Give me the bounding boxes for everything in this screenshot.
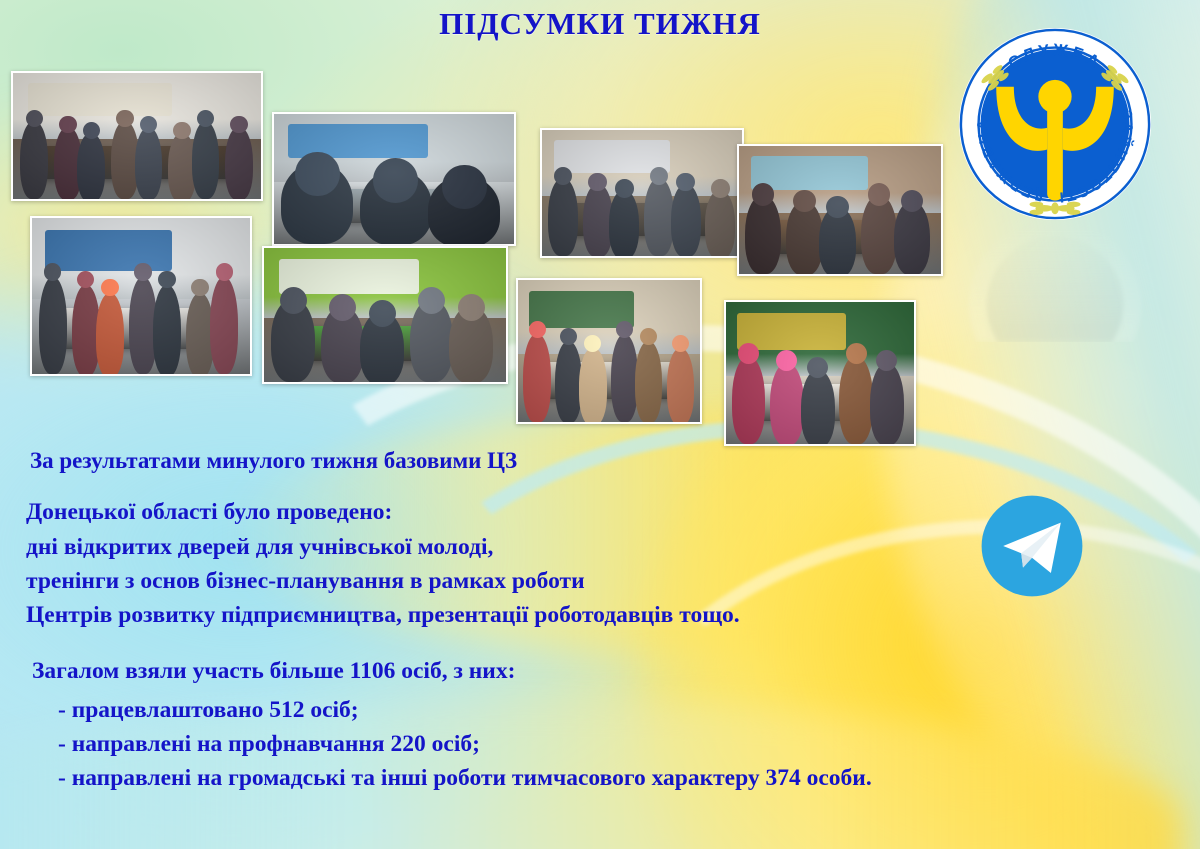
photo-vignette [739, 146, 941, 274]
telegram-icon[interactable] [978, 492, 1086, 600]
poster-root: ПІДСУМКИ ТИЖНЯ [0, 0, 1200, 849]
photo-vignette [13, 73, 261, 199]
statistics-block: Загалом взяли участь більше 1106 осіб, з… [32, 654, 1160, 794]
photo-scene [32, 218, 250, 374]
photo-vignette [542, 130, 742, 256]
photo-scene [264, 248, 506, 382]
photo-flags-group-outdoors [272, 112, 516, 246]
photo-vignette [726, 302, 914, 444]
photo-scene [274, 114, 514, 244]
stats-total: Загалом взяли участь більше 1106 осіб, з… [32, 654, 1160, 688]
logo-reflection-icon [965, 222, 1145, 342]
paragraph-line: Центрів розвитку підприємництва, презент… [26, 598, 1160, 632]
photo-classroom-presentation [540, 128, 744, 258]
photo-seminar-round-tables [30, 216, 252, 376]
stats-items: - працевлаштовано 512 осіб;- направлені … [32, 693, 1160, 795]
photo-scene [739, 146, 941, 274]
stats-item: - направлені на профнавчання 220 осіб; [58, 727, 1160, 761]
photo-vignette [518, 280, 700, 422]
photo-roundtable-meeting [11, 71, 263, 201]
photo-school-workshop [516, 278, 702, 424]
photo-scene [518, 280, 700, 422]
photo-scene [726, 302, 914, 444]
photo-vignette [274, 114, 514, 244]
employment-service-emblem-icon: СЛУЖБА ЗАЙНЯТОСТІ ДЕРЖАВНА [957, 26, 1153, 222]
stats-item: - направлені на громадські та інші робот… [58, 761, 1160, 795]
logo-reflection [965, 222, 1145, 342]
photo-vignette [264, 248, 506, 382]
stats-item: - працевлаштовано 512 осіб; [58, 693, 1160, 727]
state-employment-service-logo: СЛУЖБА ЗАЙНЯТОСТІ ДЕРЖАВНА [957, 26, 1153, 222]
photo-pupils-drawing [724, 300, 916, 446]
photo-scene [542, 130, 742, 256]
photo-scene [13, 73, 261, 199]
photo-green-hall-discussion [262, 246, 508, 384]
photo-training-with-drawings [737, 144, 943, 276]
photo-collage [0, 0, 960, 460]
photo-vignette [32, 218, 250, 374]
telegram-logo-icon[interactable] [978, 492, 1086, 600]
lead-line: За результатами минулого тижня базовими … [30, 448, 1160, 473]
